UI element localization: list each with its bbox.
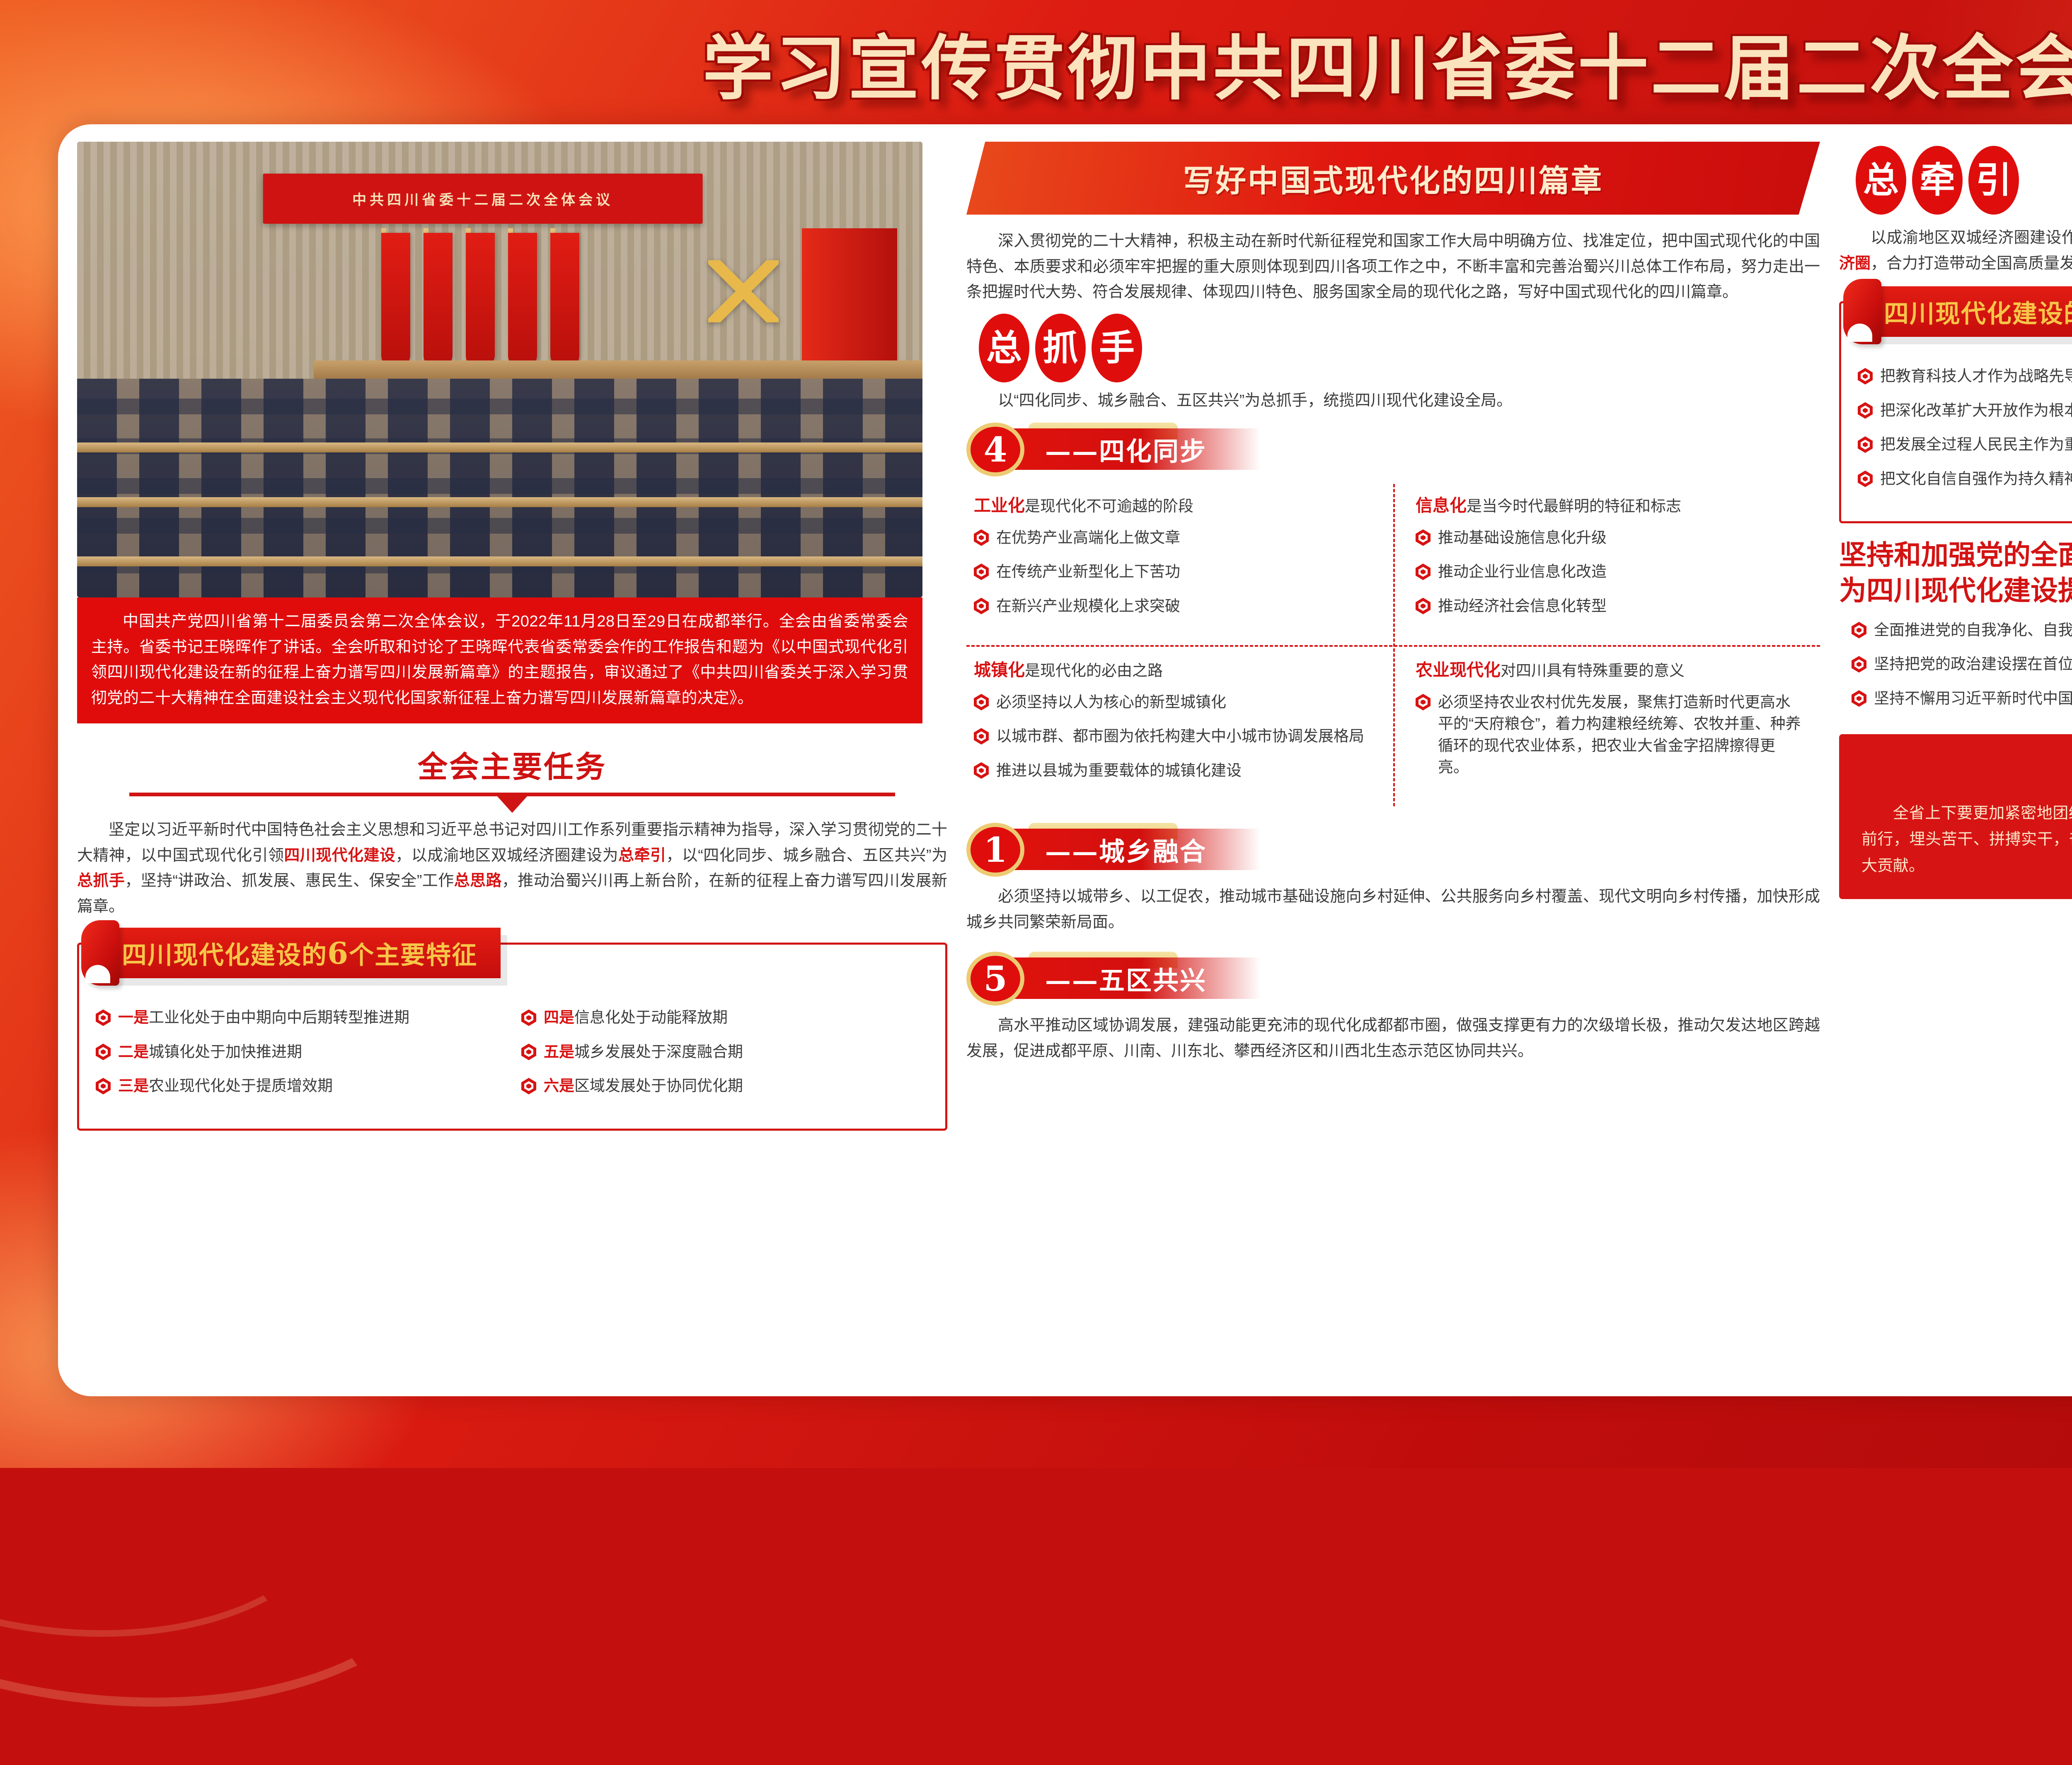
tag-label: ——城乡融合 xyxy=(1045,831,1207,868)
quadrant-key: 信息化 xyxy=(1416,496,1467,515)
quadrant-subtext: 是当今时代最鲜明的特征和标志 xyxy=(1467,498,1681,515)
party-heading-line-1: 坚持和加强党的全面领导 xyxy=(1839,537,2072,573)
party-leadership-heading: 坚持和加强党的全面领导 为四川现代化建设提供坚强保证 xyxy=(1839,537,2072,609)
seven-tasks-col-left: 把教育科技人才作为战略先导 把深化改革扩大开放作为根本动力 把发展全过程人民民主… xyxy=(1858,365,2072,502)
list-item-text: 五是城乡发展处于深度融合期 xyxy=(544,1041,743,1063)
list-item-label: 三是 xyxy=(118,1077,149,1094)
party-col-left: 全面推进党的自我净化、自我完善、自我革新、自我提高 坚持把党的政治建设摆在首位 … xyxy=(1852,619,2072,722)
banner-shadow-bar xyxy=(1005,214,1795,220)
hexagon-bullet-icon xyxy=(1852,622,1866,638)
zongzhuashou-stamp-row: 总 抓 手 xyxy=(979,314,1820,382)
six-features-box: 四川现代化建设的6个主要特征 一是工业化处于由中期向中后期转型推进期 二是城镇化… xyxy=(77,943,947,1131)
stamp-char-3: 引 xyxy=(1968,146,2019,215)
tag-label: ——五区共兴 xyxy=(1045,960,1207,997)
quadrant-subtext: 是现代化不可逾越的阶段 xyxy=(1025,498,1193,515)
list-item: 推动基础设施信息化升级 xyxy=(1416,527,1803,549)
hexagon-bullet-icon xyxy=(96,1044,111,1060)
list-item: 坚持不懈用习近平新时代中国特色社会主义思想凝心铸魂 xyxy=(1852,688,2072,710)
list-item: 把发展全过程人民民主作为重要保障 xyxy=(1858,434,2072,456)
hexagon-bullet-icon xyxy=(1852,656,1866,672)
six-features-ribbon: 四川现代化建设的6个主要特征 xyxy=(100,928,501,978)
list-item: 在优势产业高端化上做文章 xyxy=(974,527,1377,549)
list-item-text: 在优势产业高端化上做文章 xyxy=(996,527,1180,549)
banner-title: 写好中国式现代化的四川篇章 xyxy=(1183,156,1603,201)
hexagon-bullet-icon xyxy=(974,563,989,580)
zongqianyin-text-1: 以成渝地区双城经济圈建设作为四川现代化建设的总牵引， xyxy=(1871,229,2072,247)
party-emblem-icon xyxy=(708,260,779,322)
tag-urban-rural-integration: ——城乡融合 1 xyxy=(966,823,1820,877)
tag-plate: ——四化同步 xyxy=(995,428,1261,470)
poster-header: 学习宣传贯彻中共四川省委十二届二次全会精神 xyxy=(0,0,2072,124)
list-item: 五是城乡发展处于深度融合期 xyxy=(521,1041,929,1063)
desk-row xyxy=(77,556,922,566)
quadrant-heading: 农业现代化对四川具有特殊重要的意义 xyxy=(1416,658,1803,682)
quadrant-key: 农业现代化 xyxy=(1416,660,1501,679)
list-item-text: 以城市群、都市圈为依托构建大中小城市协调发展格局 xyxy=(996,725,1364,747)
hexagon-bullet-icon xyxy=(1416,563,1431,580)
desk-row xyxy=(77,442,922,452)
ribbon-number: 6 xyxy=(327,936,349,971)
list-item: 在传统产业新型化上下苦功 xyxy=(974,561,1377,583)
list-item: 坚持把党的政治建设摆在首位 xyxy=(1852,653,2072,675)
party-heading-line-2: 为四川现代化建设提供坚强保证 xyxy=(1839,573,2072,609)
list-item-text: 坚持不懈用习近平新时代中国特色社会主义思想凝心铸魂 xyxy=(1874,688,2072,710)
underline-arrow-tip xyxy=(497,796,527,813)
list-item-body: 区域发展处于协同优化期 xyxy=(574,1077,743,1094)
seven-tasks-box: 四川现代化建设的7项重点任务 把教育科技人才作为战略先导 把深化改革扩大开放作为… xyxy=(1839,301,2072,523)
quadrant-key: 城镇化 xyxy=(974,660,1025,679)
section-title-main-tasks: 全会主要任务 xyxy=(77,742,947,786)
list-item-label: 四是 xyxy=(544,1009,574,1026)
tag-plate: ——五区共兴 xyxy=(995,957,1261,999)
zongqianyin-text-2: ，合力打造带动全国高质量发展的重要增长极和新的动力源。 xyxy=(1871,255,2072,272)
tag-four-modernizations: ——四化同步 4 xyxy=(966,423,1820,476)
content-card: 中共四川省委十二届二次全体会议 中国共产党四川省第十二届委员会第二次 xyxy=(58,124,2072,1396)
hexagon-bullet-icon xyxy=(1416,529,1431,546)
task-highlight-3: 总抓手 xyxy=(77,872,125,890)
hexagon-bullet-icon xyxy=(974,728,989,745)
list-item-body: 城镇化处于加快推进期 xyxy=(149,1043,302,1060)
list-item-body: 信息化处于动能释放期 xyxy=(574,1009,728,1026)
list-item: 六是区域发展处于协同优化期 xyxy=(521,1075,929,1097)
list-item: 在新兴产业规模化上求突破 xyxy=(974,595,1377,617)
banner-shape: 写好中国式现代化的四川篇章 xyxy=(966,142,1820,215)
list-item: 二是城镇化处于加快推进期 xyxy=(96,1041,503,1063)
hexagon-bullet-icon xyxy=(974,598,989,614)
list-item-label: 五是 xyxy=(544,1043,574,1060)
six-features-ribbon-text: 四川现代化建设的6个主要特征 xyxy=(122,935,477,971)
list-item: 三是农业现代化处于提质增效期 xyxy=(96,1075,503,1097)
stage-banner-text: 中共四川省委十二届二次全体会议 xyxy=(263,174,703,224)
six-features-col-right: 四是信息化处于动能释放期 五是城乡发展处于深度融合期 六是区域发展处于协同优化期 xyxy=(521,1007,929,1110)
quadrant-key: 工业化 xyxy=(974,496,1025,515)
tag-number-badge: 4 xyxy=(966,423,1024,476)
stamp-char-1: 总 xyxy=(1856,146,1906,215)
six-features-list: 一是工业化处于由中期向中后期转型推进期 二是城镇化处于加快推进期 三是农业现代化… xyxy=(96,1007,929,1110)
list-item-label: 一是 xyxy=(118,1009,149,1026)
zongqianyin-stamp-row: 总 牵 引 xyxy=(1856,146,2072,215)
page-title: 学习宣传贯彻中共四川省委十二届二次全会精神 xyxy=(702,11,2072,113)
list-item-body: 工业化处于由中期向中后期转型推进期 xyxy=(149,1009,409,1026)
plenary-call-box: 全会号召 全省上下要更加紧密地团结在以习近平同志为核心的党中央周围，全面贯彻落实… xyxy=(1839,734,2072,899)
title-underline-arrow xyxy=(77,793,947,807)
red-flag-icon xyxy=(508,233,537,370)
stamp-char-1: 总 xyxy=(979,314,1029,382)
list-item-text: 推进以县城为重要载体的城镇化建设 xyxy=(996,760,1242,782)
party-leadership-list: 全面推进党的自我净化、自我完善、自我革新、自我提高 坚持把党的政治建设摆在首位 … xyxy=(1839,619,2072,722)
four-modernizations-quadrants: 工业化是现代化不可逾越的阶段 在优势产业高端化上做文章 在传统产业新型化上下苦功… xyxy=(966,484,1820,806)
seven-tasks-ribbon-text: 四川现代化建设的7项重点任务 xyxy=(1884,294,2072,330)
ribbon-curl-icon xyxy=(81,920,119,986)
list-item-text: 推动经济社会信息化转型 xyxy=(1438,595,1607,617)
list-item-text: 在新兴产业规模化上求突破 xyxy=(996,595,1180,617)
hexagon-bullet-icon xyxy=(1852,690,1866,707)
list-item-label: 二是 xyxy=(118,1043,149,1060)
sichuan-chapter-paragraph: 深入贯彻党的二十大精神，积极主动在新时代新征程党和国家工作大局中明确方位、找准定… xyxy=(966,229,1820,305)
main-tasks-paragraph: 坚定以习近平新时代中国特色社会主义思想和习近平总书记对四川工作系列重要指示精神为… xyxy=(77,817,947,919)
hexagon-bullet-icon xyxy=(1858,402,1873,419)
quadrant-informatization: 信息化是当今时代最鲜明的特征和标志 推动基础设施信息化升级 推动企业行业信息化改… xyxy=(1393,486,1820,642)
ribbon-prefix: 四川现代化建设的 xyxy=(1884,300,2072,329)
hexagon-bullet-icon xyxy=(1416,598,1431,614)
desk-row xyxy=(77,497,922,507)
hexagon-bullet-icon xyxy=(974,529,989,546)
five-zones-paragraph: 高水平推动区域协调发展，建强动能更充沛的现代化成都都市圈，做强支撑更有力的次级增… xyxy=(966,1013,1820,1064)
left-column: 中共四川省委十二届二次全体会议 中国共产党四川省第十二届委员会第二次 xyxy=(77,142,947,1384)
hexagon-bullet-icon xyxy=(96,1009,111,1026)
list-item: 把深化改革扩大开放作为根本动力 xyxy=(1858,400,2072,422)
photo-caption: 中国共产党四川省第十二届委员会第二次全体会议，于2022年11月28日至29日在… xyxy=(77,597,922,723)
list-item-text: 把发展全过程人民民主作为重要保障 xyxy=(1880,434,2072,456)
list-item: 一是工业化处于由中期向中后期转型推进期 xyxy=(96,1007,503,1029)
hexagon-bullet-icon xyxy=(974,694,989,711)
list-item-text: 必须坚持以人为核心的新型城镇化 xyxy=(996,691,1226,713)
red-flag-icon xyxy=(424,233,453,370)
list-item-text: 把文化自信自强作为持久精神力量 xyxy=(1880,468,2072,490)
middle-column: 写好中国式现代化的四川篇章 深入贯彻党的二十大精神，积极主动在新时代新征程党和国… xyxy=(966,142,1820,1384)
tag-five-zones: ——五区共兴 5 xyxy=(966,952,1820,1006)
ribbon-prefix: 四川现代化建设的 xyxy=(122,941,327,970)
list-item: 四是信息化处于动能释放期 xyxy=(521,1007,929,1029)
list-item-text: 三是农业现代化处于提质增效期 xyxy=(118,1075,333,1097)
stamp-char-3: 手 xyxy=(1092,314,1142,382)
red-flag-icon xyxy=(466,233,495,370)
list-item-text: 在传统产业新型化上下苦功 xyxy=(996,561,1180,583)
hexagon-bullet-icon xyxy=(1858,471,1873,487)
hexagon-bullet-icon xyxy=(521,1009,536,1026)
ribbon-curl-icon xyxy=(1843,279,1881,344)
task-text-4: ，坚持“讲政治、抓发展、惠民生、保安全”工作 xyxy=(125,872,454,890)
quadrant-heading: 工业化是现代化不可逾越的阶段 xyxy=(974,494,1377,517)
stamp-char-2: 牵 xyxy=(1912,146,1963,215)
list-item-text: 必须坚持农业农村优先发展，聚焦打造新时代更高水平的“天府粮仓”，着力构建粮经统筹… xyxy=(1438,691,1803,779)
quadrant-divider-horizontal xyxy=(966,645,1820,647)
hexagon-bullet-icon xyxy=(1858,368,1873,384)
list-item: 推进以县城为重要载体的城镇化建设 xyxy=(974,760,1377,782)
seven-tasks-ribbon: 四川现代化建设的7项重点任务 xyxy=(1862,286,2072,337)
quadrant-subtext: 对四川具有特殊重要的意义 xyxy=(1501,662,1685,679)
photo-block: 中共四川省委十二届二次全体会议 中国共产党四川省第十二届委员会第二次 xyxy=(77,142,922,723)
list-item-text: 推动基础设施信息化升级 xyxy=(1438,527,1607,549)
quadrant-urbanization: 城镇化是现代化的必由之路 必须坚持以人为核心的新型城镇化 以城市群、都市圈为依托… xyxy=(966,642,1393,806)
tag-number-badge: 1 xyxy=(966,823,1024,877)
list-item-text: 四是信息化处于动能释放期 xyxy=(544,1007,728,1029)
task-highlight-4: 总思路 xyxy=(454,872,502,890)
list-item: 以城市群、都市圈为依托构建大中小城市协调发展格局 xyxy=(974,725,1377,747)
zongqianyin-paragraph: 以成渝地区双城经济圈建设作为四川现代化建设的总牵引，加强与重庆方面全方位协作，在… xyxy=(1839,225,2072,276)
quadrant-agricultural-modernization: 农业现代化对四川具有特殊重要的意义 必须坚持农业农村优先发展，聚焦打造新时代更高… xyxy=(1393,642,1820,806)
party-leadership-section: 坚持和加强党的全面领导 为四川现代化建设提供坚强保证 全面推进党的自我净化、自我… xyxy=(1839,537,2072,722)
sichuan-chapter-banner: 写好中国式现代化的四川篇章 xyxy=(966,142,1820,215)
quadrant-heading: 城镇化是现代化的必由之路 xyxy=(974,658,1377,682)
quadrant-subtext: 是现代化的必由之路 xyxy=(1025,662,1163,679)
tag-label: ——四化同步 xyxy=(1045,430,1207,468)
plenary-tasks-section: 全会主要任务 坚定以习近平新时代中国特色社会主义思想和习近平总书记对四川工作系列… xyxy=(77,742,947,919)
plenary-call-paragraph: 全省上下要更加紧密地团结在以习近平同志为核心的党中央周围，全面贯彻落实党的二十大… xyxy=(1861,800,2072,879)
hexagon-bullet-icon xyxy=(521,1044,536,1060)
hexagon-bullet-icon xyxy=(96,1078,111,1094)
hexagon-bullet-icon xyxy=(521,1078,536,1094)
quadrant-industrialization: 工业化是现代化不可逾越的阶段 在优势产业高端化上做文章 在传统产业新型化上下苦功… xyxy=(966,486,1393,642)
tag-plate: ——城乡融合 xyxy=(995,829,1261,870)
list-item-text: 把教育科技人才作为战略先导 xyxy=(1880,365,2072,387)
hexagon-bullet-icon xyxy=(974,762,989,779)
list-item-text: 六是区域发展处于协同优化期 xyxy=(544,1075,743,1097)
task-text-2: ，以成渝地区双城经济圈建设为 xyxy=(395,847,618,864)
list-item: 全面推进党的自我净化、自我完善、自我革新、自我提高 xyxy=(1852,619,2072,641)
tag-number-badge: 5 xyxy=(966,952,1024,1006)
hexagon-bullet-icon xyxy=(1858,436,1873,453)
list-item-text: 坚持把党的政治建设摆在首位 xyxy=(1874,653,2072,675)
six-features-col-left: 一是工业化处于由中期向中后期转型推进期 二是城镇化处于加快推进期 三是农业现代化… xyxy=(96,1007,503,1110)
red-flag-icon xyxy=(550,233,579,370)
list-item: 推动经济社会信息化转型 xyxy=(1416,595,1803,617)
list-item-body: 城乡发展处于深度融合期 xyxy=(574,1043,743,1060)
zongzhuashou-paragraph: 以“四化同步、城乡融合、五区共兴”为总抓手，统揽四川现代化建设全局。 xyxy=(966,388,1820,414)
list-item-text: 推动企业行业信息化改造 xyxy=(1438,561,1607,583)
task-highlight-2: 总牵引 xyxy=(618,847,666,864)
quadrant-heading: 信息化是当今时代最鲜明的特征和标志 xyxy=(1416,494,1803,517)
hexagon-bullet-icon xyxy=(1416,694,1431,711)
list-item: 把文化自信自强作为持久精神力量 xyxy=(1858,468,2072,490)
list-item: 必须坚持农业农村优先发展，聚焦打造新时代更高水平的“天府粮仓”，着力构建粮经统筹… xyxy=(1416,691,1803,779)
list-item: 必须坚持以人为核心的新型城镇化 xyxy=(974,691,1377,713)
ribbon-suffix: 个主要特征 xyxy=(349,941,477,970)
plenary-session-photo: 中共四川省委十二届二次全体会议 xyxy=(77,142,922,597)
red-flag-icon xyxy=(381,233,410,370)
list-item-body: 农业现代化处于提质增效期 xyxy=(149,1077,333,1094)
list-item: 推动企业行业信息化改造 xyxy=(1416,561,1803,583)
list-item: 把教育科技人才作为战略先导 xyxy=(1858,365,2072,387)
seven-tasks-list: 把教育科技人才作为战略先导 把深化改革扩大开放作为根本动力 把发展全过程人民民主… xyxy=(1858,365,2072,502)
right-column: 总 牵 引 以成渝地区双城经济圈建设作为四川现代化建设的总牵引，加强与重庆方面全… xyxy=(1839,142,2072,1384)
task-text-3: ，以“四化同步、城乡融合、五区共兴”为 xyxy=(666,847,947,864)
list-item-text: 把深化改革扩大开放作为根本动力 xyxy=(1880,400,2072,422)
list-item-text: 二是城镇化处于加快推进期 xyxy=(118,1041,302,1063)
list-item-label: 六是 xyxy=(544,1077,574,1094)
urban-rural-paragraph: 必须坚持以城带乡、以工促农，推动城市基础设施向乡村延伸、公共服务向乡村覆盖、现代… xyxy=(966,884,1820,935)
list-item-text: 一是工业化处于由中期向中后期转型推进期 xyxy=(118,1007,409,1029)
list-item-text: 全面推进党的自我净化、自我完善、自我革新、自我提高 xyxy=(1874,619,2072,641)
stamp-char-2: 抓 xyxy=(1035,314,1086,382)
underline-bar xyxy=(129,793,895,796)
task-highlight-1: 四川现代化建设 xyxy=(284,847,395,864)
